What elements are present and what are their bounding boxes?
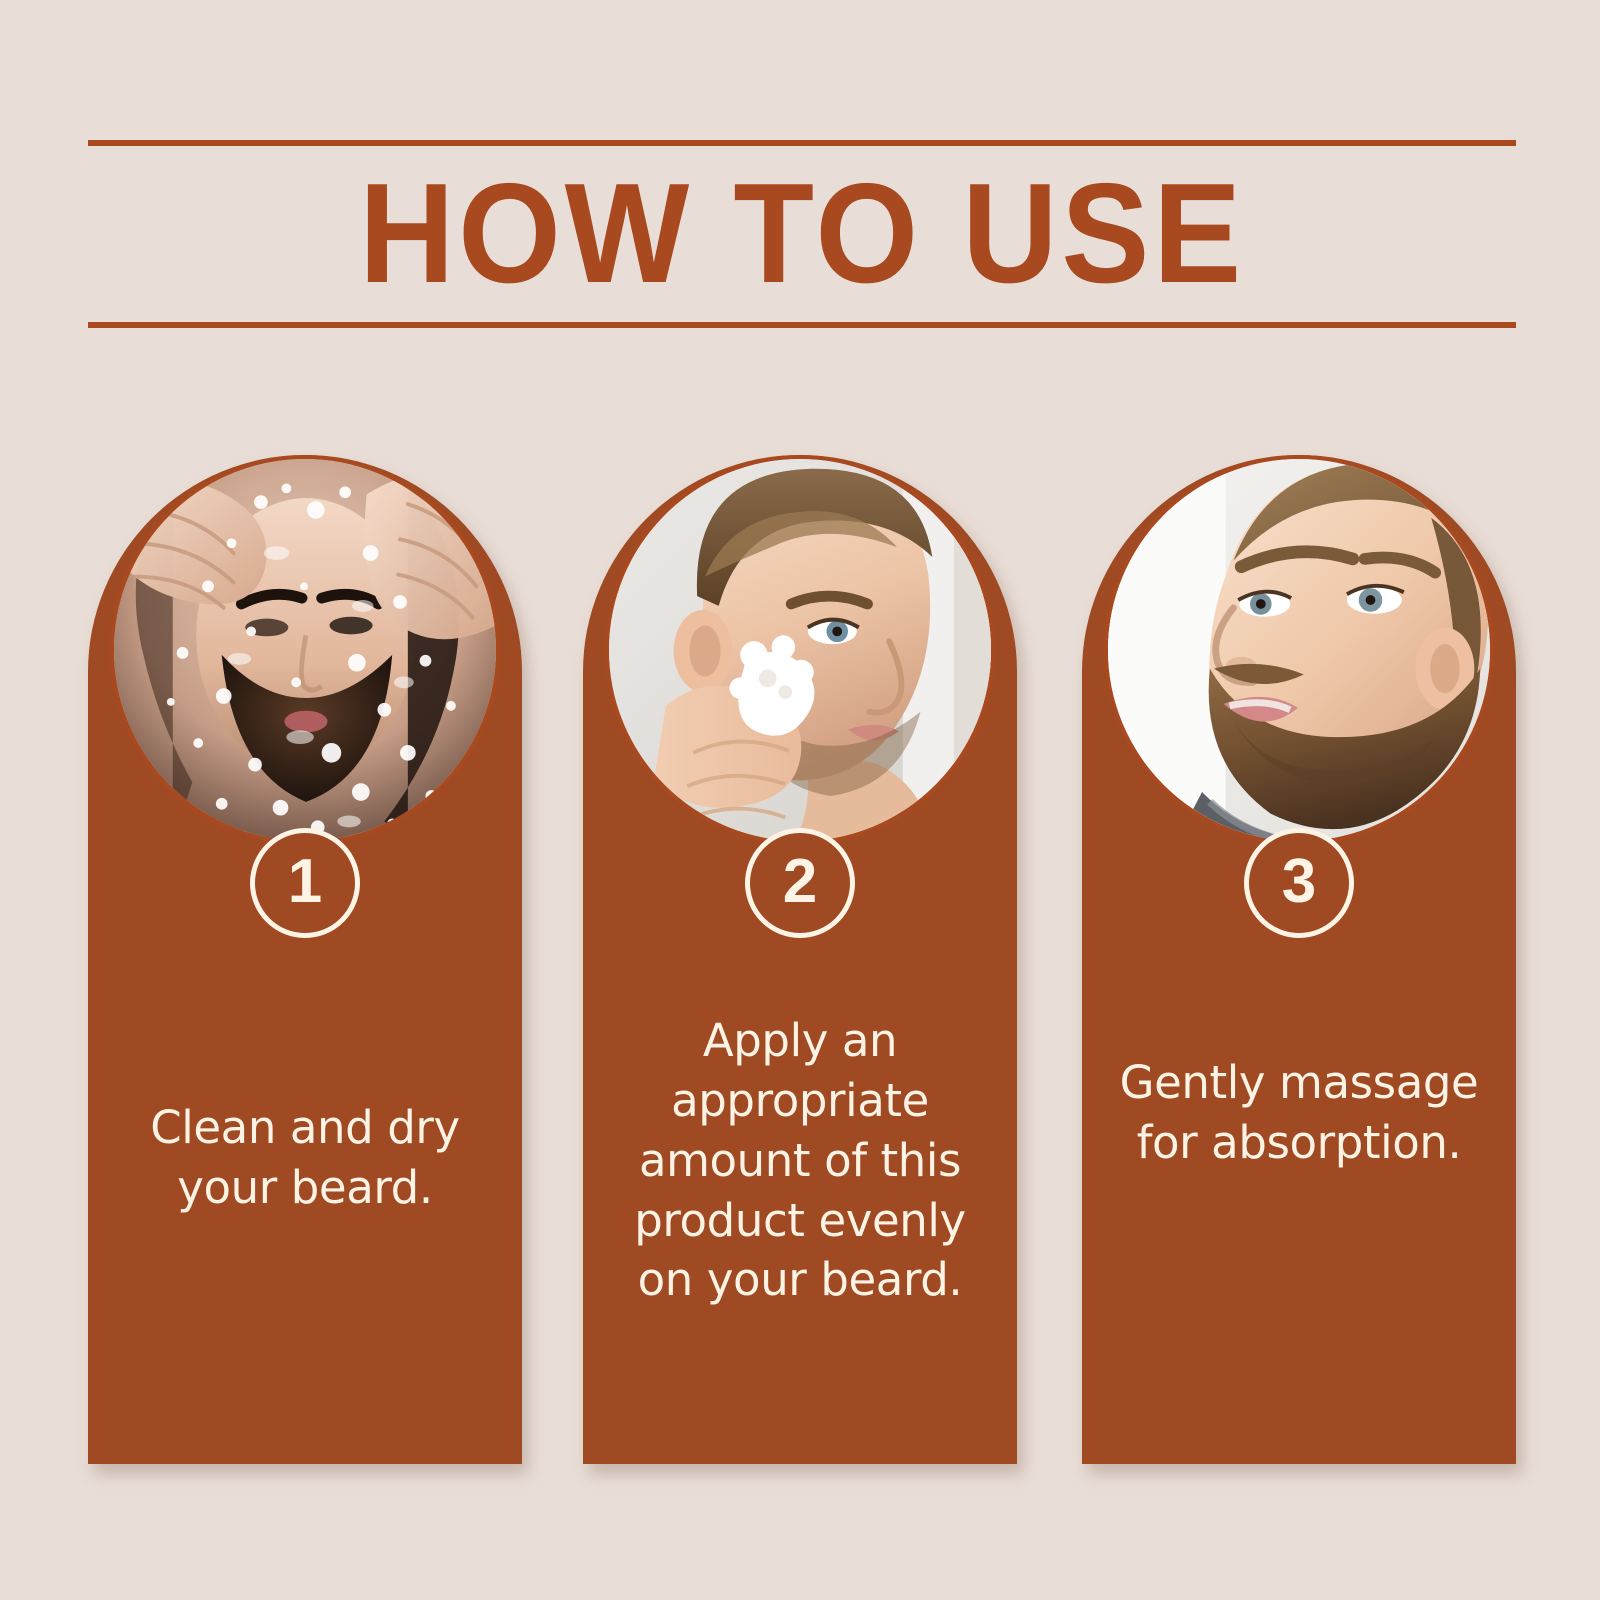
step-card-1: 1 Clean and dry your beard. [88, 438, 522, 1464]
applying-cream-photo [609, 459, 991, 841]
page-title: HOW TO USE [138, 140, 1466, 328]
step-number-1: 1 [288, 851, 322, 913]
step-photo-3 [1104, 455, 1494, 845]
step-photo-1 [110, 455, 500, 845]
bottom-divider-rule [88, 322, 1516, 328]
step-number-3: 3 [1282, 851, 1316, 913]
bearded-man-profile-photo [1108, 459, 1490, 841]
step-card-2: 2 Apply an appropriate amount of this pr… [583, 438, 1017, 1464]
step-badge-2: 2 [745, 828, 855, 938]
water-splash-face-photo [114, 459, 496, 841]
step-card-3: 3 Gently massage for absorption. [1082, 438, 1516, 1464]
step-photo-2 [605, 455, 995, 845]
header: HOW TO USE [88, 140, 1516, 328]
steps-row: 1 Clean and dry your beard. [88, 438, 1516, 1468]
step-number-2: 2 [783, 851, 817, 913]
step-caption-1: Clean and dry your beard. [108, 1098, 502, 1218]
how-to-use-infographic: HOW TO USE [0, 0, 1600, 1600]
step-caption-2: Apply an appropriate amount of this prod… [603, 1011, 997, 1310]
step-badge-3: 3 [1244, 828, 1354, 938]
step-caption-3: Gently massage for absorption. [1102, 1053, 1496, 1173]
step-badge-1: 1 [250, 828, 360, 938]
